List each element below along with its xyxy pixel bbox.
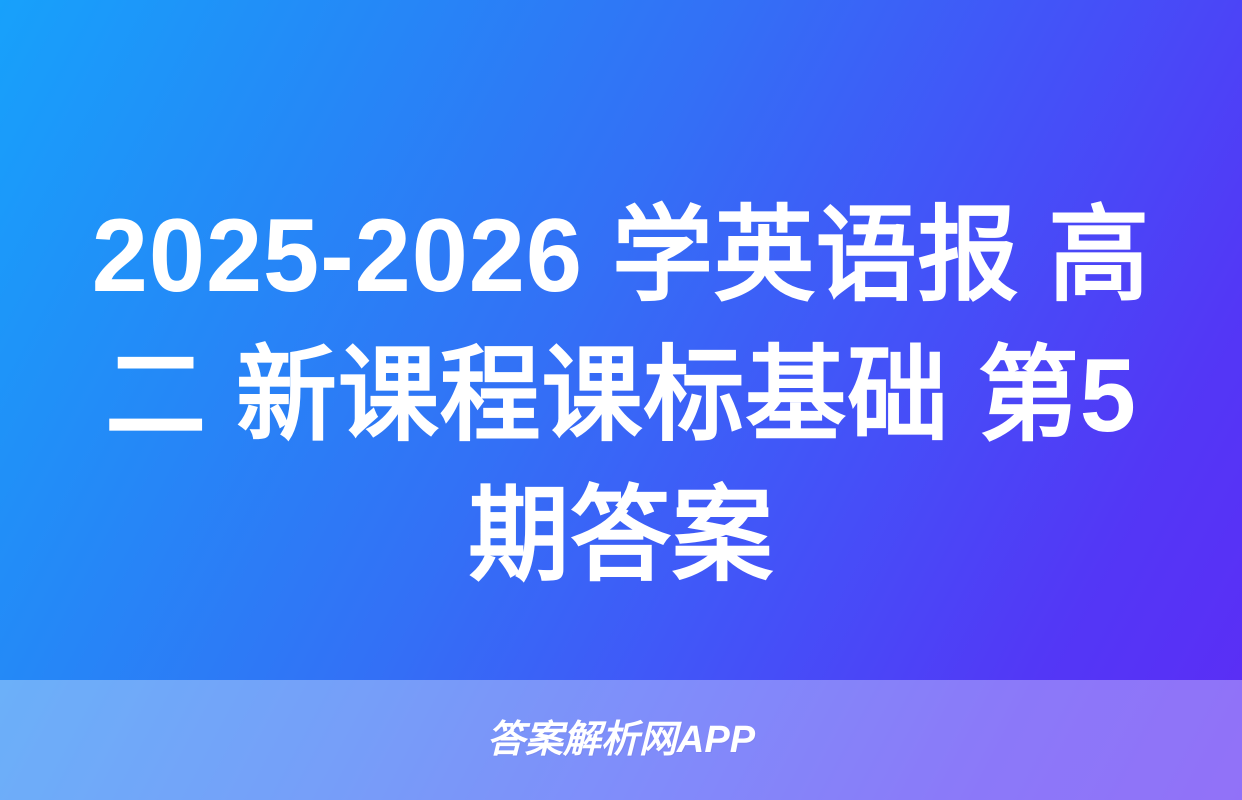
- footer-band: 答案解析网APP: [0, 680, 1242, 800]
- title-line-3: 期答案: [77, 466, 1165, 606]
- answer-banner: 2025-2026 学英语报 高 二 新课程课标基础 第5 期答案 答案解析网A…: [0, 0, 1242, 800]
- page-title: 2025-2026 学英语报 高 二 新课程课标基础 第5 期答案: [60, 186, 1182, 606]
- title-line-1: 2025-2026 学英语报 高: [77, 186, 1165, 326]
- title-line-2: 二 新课程课标基础 第5: [77, 326, 1165, 466]
- app-brand-label: 答案解析网APP: [487, 721, 755, 759]
